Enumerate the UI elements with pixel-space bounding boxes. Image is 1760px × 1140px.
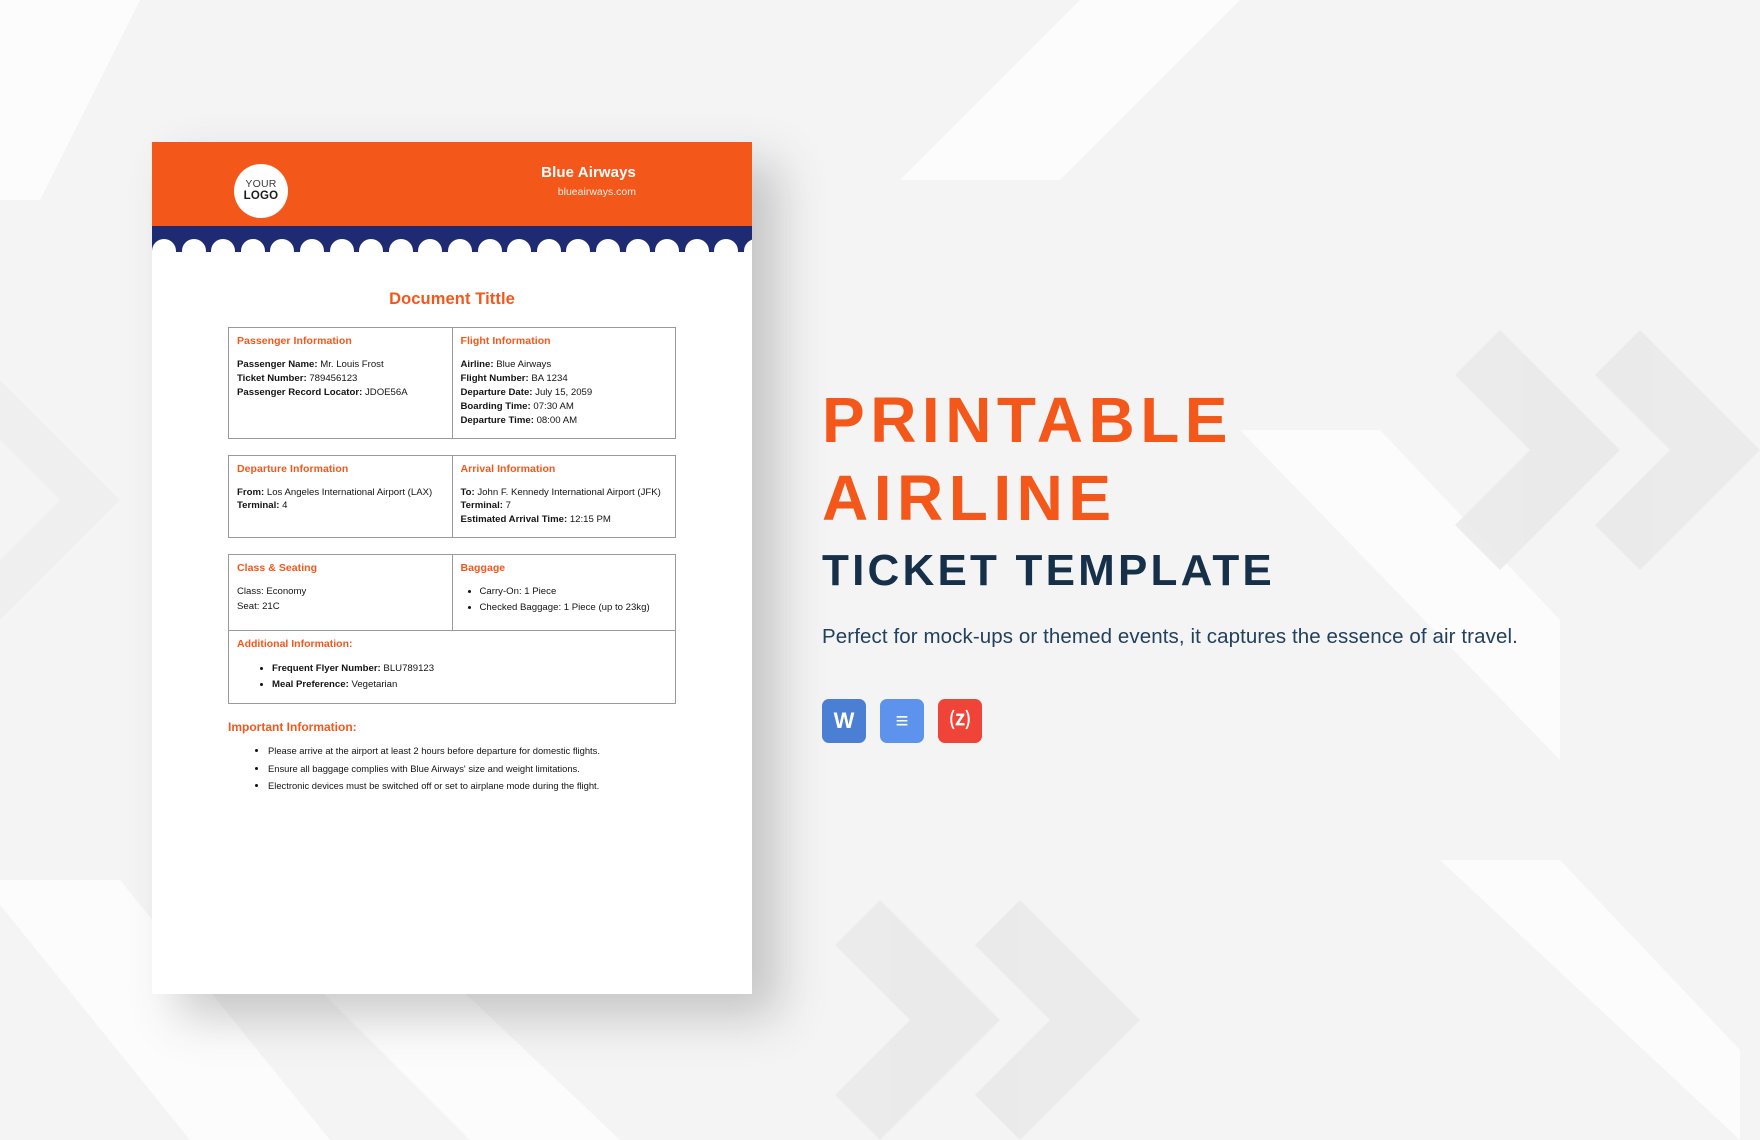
promo-headline-line-1: PRINTABLE [822, 388, 1522, 452]
field-value: Los Angeles International Airport (LAX) [267, 487, 432, 498]
baggage-cell: Baggage Carry-On: 1 Piece Checked Baggag… [452, 555, 676, 631]
brand-website: blueairways.com [541, 186, 636, 198]
field-value: BLU789123 [383, 663, 434, 674]
scallop-row [152, 239, 752, 252]
word-file-icon-glyph: W [834, 710, 855, 732]
field-label: Frequent Flyer Number: [272, 663, 381, 674]
field-value: John F. Kennedy International Airport (J… [477, 487, 660, 498]
arrival-information-heading: Arrival Information [461, 463, 669, 475]
flight-information-heading: Flight Information [461, 335, 669, 347]
field-value: July 15, 2059 [535, 387, 592, 398]
promo-headline-line-2: AIRLINE [822, 464, 1522, 533]
passenger-row: Ticket Number: 789456123 [237, 372, 445, 386]
field-label: Terminal: [237, 500, 279, 511]
pdf-file-icon-glyph: ⒵ [950, 711, 970, 731]
promo-panel: PRINTABLE AIRLINE TICKET TEMPLATE Perfec… [822, 388, 1522, 743]
list-item: Frequent Flyer Number: BLU789123 [272, 662, 668, 676]
list-item: Carry-On: 1 Piece [480, 585, 669, 599]
field-label: Estimated Arrival Time: [461, 514, 568, 525]
field-label: Flight Number: [461, 373, 529, 384]
field-label: Terminal: [461, 500, 503, 511]
field-value: 07:30 AM [533, 401, 574, 412]
seat-line: Seat: 21C [237, 600, 445, 615]
additional-information-heading: Additional Information: [237, 638, 668, 650]
additional-information-list: Frequent Flyer Number: BLU789123 Meal Pr… [237, 662, 668, 692]
list-item: Please arrive at the airport at least 2 … [268, 744, 708, 759]
brand-block: Blue Airways blueairways.com [541, 164, 636, 198]
arrival-row: To: John F. Kennedy International Airpor… [461, 486, 669, 500]
baggage-heading: Baggage [461, 562, 669, 574]
field-label: To: [461, 487, 475, 498]
flight-row: Departure Date: July 15, 2059 [461, 386, 669, 400]
document-body: Document Tittle Passenger Information Pa… [152, 252, 752, 794]
departure-information-heading: Departure Information [237, 463, 445, 475]
field-label: Passenger Record Locator: [237, 387, 362, 398]
departure-arrival-table: Departure Information From: Los Angeles … [228, 455, 676, 539]
field-value: Vegetarian [351, 679, 397, 690]
field-label: Departure Date: [461, 387, 533, 398]
field-value: Mr. Louis Frost [320, 359, 383, 370]
field-value: 08:00 AM [537, 415, 578, 426]
class-seating-cell: Class & Seating Class: Economy Seat: 21C [229, 555, 453, 631]
list-item: Electronic devices must be switched off … [268, 779, 708, 794]
screenshot-stage: YOUR LOGO Blue Airways blueairways.com D… [0, 0, 1760, 1140]
class-seating-heading: Class & Seating [237, 562, 445, 574]
word-file-icon[interactable]: W [822, 699, 866, 743]
field-label: From: [237, 487, 264, 498]
flight-row: Departure Time: 08:00 AM [461, 414, 669, 428]
field-value: 12:15 PM [570, 514, 611, 525]
passenger-row: Passenger Name: Mr. Louis Frost [237, 358, 445, 372]
field-value: JDOE56A [365, 387, 408, 398]
promo-headline-line-3: TICKET TEMPLATE [822, 547, 1522, 595]
class-baggage-additional-table: Class & Seating Class: Economy Seat: 21C… [228, 554, 676, 704]
promo-subtitle: Perfect for mock-ups or themed events, i… [822, 622, 1522, 652]
pdf-file-icon[interactable]: ⒵ [938, 699, 982, 743]
field-label: Passenger Name: [237, 359, 318, 370]
logo-line-2: LOGO [244, 190, 279, 202]
field-label: Ticket Number: [237, 373, 307, 384]
document-page[interactable]: YOUR LOGO Blue Airways blueairways.com D… [152, 142, 752, 994]
passenger-information-heading: Passenger Information [237, 335, 445, 347]
field-label: Airline: [461, 359, 494, 370]
field-label: Boarding Time: [461, 401, 531, 412]
class-line: Class: Economy [237, 585, 445, 600]
file-format-icons: W ≡ ⒵ [822, 699, 1522, 743]
page-title: Document Tittle [196, 290, 708, 309]
google-docs-file-icon[interactable]: ≡ [880, 699, 924, 743]
table-row: Class & Seating Class: Economy Seat: 21C… [229, 555, 676, 631]
field-label: Meal Preference: [272, 679, 349, 690]
field-value: 4 [282, 500, 287, 511]
brand-name: Blue Airways [541, 164, 636, 181]
arrival-row: Terminal: 7 [461, 499, 669, 513]
arrival-information-cell: Arrival Information To: John F. Kennedy … [452, 455, 676, 538]
departure-row: Terminal: 4 [237, 499, 445, 513]
flight-row: Boarding Time: 07:30 AM [461, 400, 669, 414]
table-row: Departure Information From: Los Angeles … [229, 455, 676, 538]
important-information-list: Please arrive at the airport at least 2 … [254, 744, 708, 794]
your-logo-placeholder: YOUR LOGO [234, 164, 288, 218]
logo-line-1: YOUR [245, 179, 276, 190]
flight-row: Airline: Blue Airways [461, 358, 669, 372]
arrival-row: Estimated Arrival Time: 12:15 PM [461, 513, 669, 527]
field-value: 7 [506, 500, 511, 511]
passenger-row: Passenger Record Locator: JDOE56A [237, 386, 445, 400]
list-item: Ensure all baggage complies with Blue Ai… [268, 762, 708, 777]
field-value: 789456123 [309, 373, 357, 384]
passenger-flight-table: Passenger Information Passenger Name: Mr… [228, 327, 676, 439]
navy-scallop-strip [152, 226, 752, 252]
table-row: Additional Information: Frequent Flyer N… [229, 631, 676, 704]
document-header: YOUR LOGO Blue Airways blueairways.com [152, 142, 752, 226]
additional-information-cell: Additional Information: Frequent Flyer N… [229, 631, 676, 704]
list-item: Checked Baggage: 1 Piece (up to 23kg) [480, 601, 669, 615]
flight-information-cell: Flight Information Airline: Blue Airways… [452, 328, 676, 439]
baggage-list: Carry-On: 1 Piece Checked Baggage: 1 Pie… [461, 585, 669, 615]
passenger-information-cell: Passenger Information Passenger Name: Mr… [229, 328, 453, 439]
field-value: Blue Airways [496, 359, 551, 370]
field-value: BA 1234 [531, 373, 567, 384]
departure-row: From: Los Angeles International Airport … [237, 486, 445, 500]
flight-row: Flight Number: BA 1234 [461, 372, 669, 386]
list-item: Meal Preference: Vegetarian [272, 678, 668, 692]
important-information-heading: Important Information: [228, 720, 708, 734]
field-label: Departure Time: [461, 415, 534, 426]
departure-information-cell: Departure Information From: Los Angeles … [229, 455, 453, 538]
table-row: Passenger Information Passenger Name: Mr… [229, 328, 676, 439]
google-docs-file-icon-glyph: ≡ [896, 710, 909, 732]
